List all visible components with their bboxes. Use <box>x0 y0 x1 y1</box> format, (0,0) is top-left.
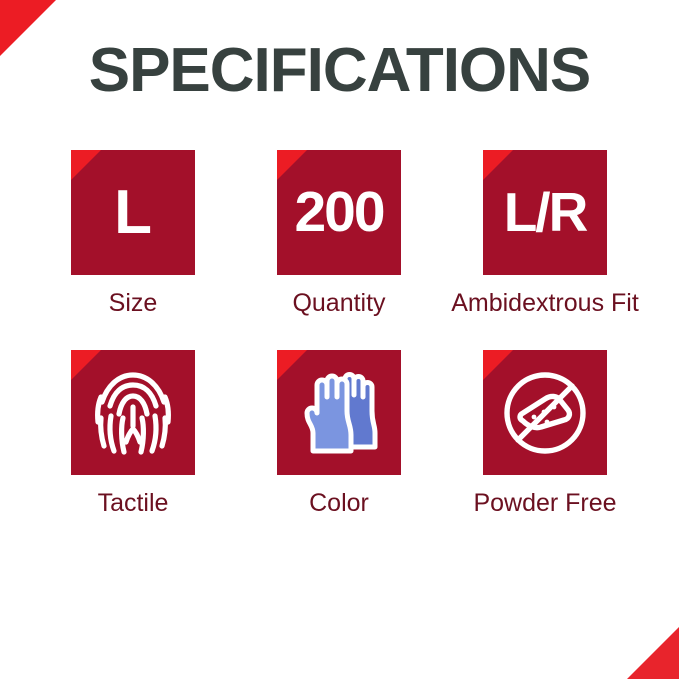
spec-tile-value: L/R <box>504 185 587 240</box>
spec-tile-value: L <box>114 182 152 244</box>
spec-caption: Size <box>109 288 158 318</box>
spec-item-size: L Size <box>30 150 236 318</box>
spec-item-tactile: Tactile <box>30 350 236 518</box>
spec-caption: Quantity <box>292 288 385 318</box>
spec-item-color: Color <box>236 350 442 518</box>
spec-tile-quantity: 200 <box>277 150 401 275</box>
page-title: SPECIFICATIONS <box>0 36 679 106</box>
spec-item-powder-free: Powder Free <box>442 350 648 518</box>
spec-caption: Color <box>309 488 369 518</box>
spec-caption: Ambidextrous Fit <box>451 288 639 318</box>
tile-corner-accent-icon <box>71 150 101 180</box>
spec-tile-ambidextrous-fit: L/R <box>483 150 607 275</box>
spec-tile-value: 200 <box>294 184 383 241</box>
corner-triangle-red-icon <box>627 627 679 679</box>
tile-corner-accent-icon <box>483 150 513 180</box>
spec-caption: Powder Free <box>473 488 616 518</box>
specs-grid: L Size 200 Quantity L/R Ambidextrous Fit <box>30 150 649 518</box>
spec-tile-tactile <box>71 350 195 475</box>
spec-tile-powder-free <box>483 350 607 475</box>
fingerprint-icon <box>92 368 174 458</box>
specifications-infographic: SPECIFICATIONS L Size 200 Quantity L/R A… <box>0 0 679 679</box>
tile-corner-accent-icon <box>277 150 307 180</box>
spec-caption: Tactile <box>98 488 169 518</box>
no-powder-prohibition-icon <box>497 365 593 461</box>
gloves-icon <box>293 367 385 459</box>
spec-item-quantity: 200 Quantity <box>236 150 442 318</box>
spec-tile-size: L <box>71 150 195 275</box>
spec-tile-color <box>277 350 401 475</box>
spec-item-ambidextrous-fit: L/R Ambidextrous Fit <box>442 150 648 318</box>
